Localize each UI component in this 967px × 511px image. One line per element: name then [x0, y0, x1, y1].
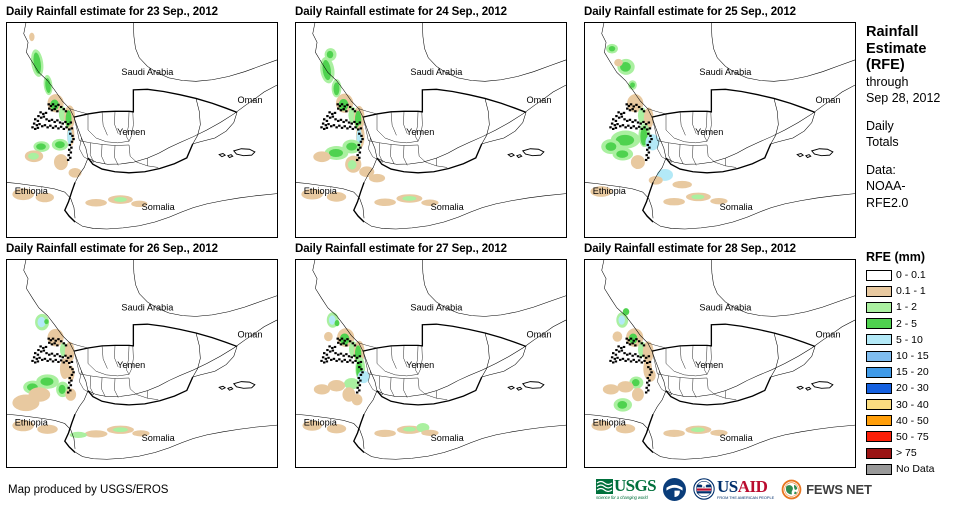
terrain-cell	[55, 340, 57, 342]
rfe-through-label: through	[866, 74, 967, 91]
map-svg: Saudi ArabiaOmanYemenEthiopiaSomalia	[585, 23, 855, 237]
terrain-cell	[640, 356, 642, 358]
terrain-cell	[359, 121, 361, 123]
terrain-cell	[360, 141, 362, 143]
terrain-cell	[72, 138, 74, 140]
terrain-cell	[49, 358, 51, 360]
terrain-cell	[337, 103, 339, 105]
country-label-yemen: Yemen	[695, 360, 723, 370]
usaid-aid-text: AID	[738, 477, 768, 496]
terrain-cell	[344, 340, 346, 342]
country-label-oman: Oman	[816, 330, 841, 340]
terrain-cell	[623, 352, 625, 354]
terrain-cell	[329, 351, 331, 353]
terrain-cell	[615, 120, 617, 122]
terrain-cell	[612, 118, 614, 120]
rfe-info-block: Rainfall Estimate (RFE) through Sep 28, …	[866, 24, 967, 211]
terrain-cell	[57, 127, 59, 129]
terrain-cell	[53, 108, 55, 110]
terrain-cell	[328, 111, 330, 113]
terrain-cell	[358, 144, 360, 146]
rainfall-layer	[12, 33, 147, 207]
terrain-cell	[65, 110, 67, 112]
terrain-cell	[646, 149, 648, 151]
terrain-cell	[345, 353, 347, 355]
terrain-cell	[647, 377, 649, 379]
terrain-cell	[623, 118, 625, 120]
terrain-cell	[56, 110, 58, 112]
terrain-cell	[323, 361, 325, 363]
terrain-cell	[70, 380, 72, 382]
terrain-cell	[53, 121, 55, 123]
terrain-cell	[323, 352, 325, 354]
terrain-cell	[67, 154, 69, 156]
terrain-cell	[341, 127, 343, 129]
terrain-cell	[340, 109, 342, 111]
islands	[219, 149, 255, 158]
terrain-cell	[39, 345, 41, 347]
country-label-yemen: Yemen	[117, 127, 145, 137]
terrain-cell	[626, 120, 628, 122]
legend-label: 50 - 75	[896, 431, 929, 443]
country-label-ethiopia: Ethiopia	[15, 418, 48, 428]
terrain-cell	[624, 360, 626, 362]
legend-swatch	[866, 334, 892, 345]
terrain-cell	[614, 358, 616, 360]
country-label-ethiopia: Ethiopia	[304, 418, 337, 428]
map-panel-28-sep: Daily Rainfall estimate for 28 Sep., 201…	[584, 243, 796, 255]
terrain-cell	[342, 121, 344, 123]
spacer	[866, 151, 967, 162]
map-frame-28-sep[interactable]: Saudi ArabiaOmanYemenEthiopiaSomalia	[584, 259, 856, 468]
terrain-cell	[56, 119, 58, 121]
rainfall-cell	[329, 315, 335, 324]
terrain-cell	[351, 356, 353, 358]
terrain-cell	[638, 340, 640, 342]
terrain-cell	[36, 124, 38, 126]
terrain-cell	[65, 126, 67, 128]
spacer	[866, 107, 967, 118]
terrain-cell	[37, 120, 39, 122]
rainfall-cell	[660, 172, 669, 178]
terrain-cell	[609, 360, 611, 362]
terrain-cell	[345, 344, 347, 346]
terrain-cell	[647, 144, 649, 146]
terrain-cell	[60, 340, 62, 342]
map-panel-23-sep: Daily Rainfall estimate for 23 Sep., 201…	[6, 6, 218, 18]
terrain-cell	[60, 359, 62, 361]
rfe-totals-label: Totals	[866, 134, 967, 151]
terrain-cell	[360, 368, 362, 370]
terrain-cell	[648, 384, 650, 386]
terrain-cell	[326, 360, 328, 362]
map-panel-25-sep: Daily Rainfall estimate for 25 Sep., 201…	[584, 6, 796, 18]
legend-label: 40 - 50	[896, 415, 929, 427]
terrain-cell	[615, 115, 617, 117]
legend-label: 5 - 10	[896, 334, 923, 346]
terrain-cell	[612, 352, 614, 354]
terrain-cell	[37, 354, 39, 356]
terrain-cell	[341, 103, 343, 105]
map-frame-24-sep[interactable]: Saudi ArabiaOmanYemenEthiopiaSomalia	[295, 22, 567, 238]
terrain-cell	[649, 368, 651, 370]
noaa-logo-icon	[663, 478, 686, 501]
terrain-cell	[635, 104, 637, 106]
terrain-cell	[633, 359, 635, 361]
terrain-cell	[69, 133, 71, 135]
terrain-cell	[333, 124, 335, 126]
country-label-oman: Oman	[527, 330, 552, 340]
terrain-cell	[68, 362, 70, 364]
terrain-cell	[342, 342, 344, 344]
terrain-cell	[45, 346, 47, 348]
legend-swatch	[866, 367, 892, 378]
legend-label: 2 - 5	[896, 318, 917, 330]
rainfall-cell	[70, 432, 87, 438]
terrain-cell	[622, 124, 624, 126]
terrain-cell	[31, 126, 33, 128]
terrain-cell	[634, 119, 636, 121]
terrain-cell	[326, 349, 328, 351]
rainfall-cell	[631, 155, 645, 169]
terrain-cell	[325, 124, 327, 126]
terrain-cell	[633, 340, 635, 342]
terrain-cell	[357, 149, 359, 151]
map-frame-23-sep[interactable]: Saudi ArabiaOmanYemenEthiopiaSomalia	[6, 22, 278, 238]
terrain-cell	[48, 103, 50, 105]
usgs-logo-main: USGS	[596, 478, 656, 494]
terrain-cell	[626, 108, 628, 110]
rainfall-cell	[613, 331, 623, 341]
terrain-cell	[648, 355, 650, 357]
map-panel-26-sep: Daily Rainfall estimate for 26 Sep., 201…	[6, 243, 218, 255]
terrain-cell	[615, 349, 617, 351]
terrain-cell	[620, 113, 622, 115]
terrain-cell	[67, 357, 69, 359]
terrain-cell	[56, 344, 58, 346]
terrain-cell	[67, 387, 69, 389]
legend-swatch	[866, 351, 892, 362]
terrain-cell	[356, 387, 358, 389]
country-label-saudi-arabia: Saudi Arabia	[410, 67, 463, 77]
terrain-cell	[326, 115, 328, 117]
panel-title: Daily Rainfall estimate for 25 Sep., 201…	[584, 6, 796, 18]
terrain-cell	[628, 105, 630, 107]
terrain-cell	[44, 124, 46, 126]
terrain-cell	[37, 349, 39, 351]
legend-item: 15 - 20	[866, 364, 967, 380]
terrain-cell	[337, 354, 339, 356]
legend-swatch	[866, 286, 892, 297]
terrain-cell	[331, 113, 333, 115]
rainfall-cell	[329, 149, 343, 157]
terrain-cell	[71, 141, 73, 143]
terrain-cell	[354, 360, 356, 362]
terrain-cell	[333, 358, 335, 360]
terrain-cell	[325, 358, 327, 360]
terrain-cell	[360, 127, 362, 129]
rainfall-cell	[114, 197, 127, 202]
rainfall-cell	[85, 430, 108, 437]
terrain-cell	[624, 126, 626, 128]
terrain-cell	[44, 358, 46, 360]
terrain-cell	[346, 127, 348, 129]
usaid-logo: USAID FROM THE AMERICAN PEOPLE	[693, 478, 774, 500]
terrain-cell	[70, 355, 72, 357]
terrain-cell	[645, 387, 647, 389]
terrain-cell	[643, 360, 645, 362]
terrain-cell	[642, 355, 644, 357]
rainfall-cell	[374, 198, 396, 205]
rainfall-cell	[59, 385, 66, 394]
terrain-cell	[320, 126, 322, 128]
terrain-cell	[646, 382, 648, 384]
usgs-logo: USGS science for a changing world	[596, 478, 656, 500]
terrain-cell	[338, 358, 340, 360]
rainfall-cell	[44, 319, 48, 324]
terrain-cell	[48, 354, 50, 356]
terrain-cell	[323, 118, 325, 120]
usaid-wordmark: USAID	[717, 479, 774, 494]
terrain-cell	[72, 371, 74, 373]
terrain-cell	[646, 128, 648, 130]
terrain-cell	[641, 128, 643, 130]
terrain-cell	[628, 339, 630, 341]
map-frame-27-sep[interactable]: Saudi ArabiaOmanYemenEthiopiaSomalia	[295, 259, 567, 468]
terrain-cell	[348, 121, 350, 123]
rainfall-cell	[632, 388, 644, 401]
terrain-cell	[626, 338, 628, 340]
terrain-cell	[67, 123, 69, 125]
terrain-cell	[349, 126, 351, 128]
terrain-cell	[57, 104, 59, 106]
terrain-cell	[638, 106, 640, 108]
terrain-cell	[59, 355, 61, 357]
terrain-cell	[627, 358, 629, 360]
terrain-cell	[337, 338, 339, 340]
rfe-heading-line2: Estimate	[866, 41, 967, 58]
fews-net-logo: FEWS NET	[781, 479, 872, 500]
terrain-cell	[340, 353, 342, 355]
country-label-yemen: Yemen	[695, 127, 723, 137]
rfe-data-source-line1: NOAA-	[866, 178, 967, 195]
usgs-tagline: science for a changing world	[596, 495, 656, 500]
terrain-cell	[62, 123, 64, 125]
terrain-cell	[70, 147, 72, 149]
terrain-cell	[621, 116, 623, 118]
terrain-cell	[356, 123, 358, 125]
terrain-cell	[41, 359, 43, 361]
terrain-cell	[337, 108, 339, 110]
terrain-cell	[356, 391, 358, 393]
terrain-cell	[614, 124, 616, 126]
terrain-cell	[334, 118, 336, 120]
terrain-cell	[349, 359, 351, 361]
terrain-cell	[64, 121, 66, 123]
terrain-cell	[339, 339, 341, 341]
terrain-cell	[328, 345, 330, 347]
country-label-yemen: Yemen	[406, 127, 434, 137]
terrain-cell	[38, 123, 40, 125]
legend-label: 0.1 - 1	[896, 285, 926, 297]
terrain-cell	[358, 133, 360, 135]
globe-icon	[781, 479, 802, 500]
terrain-cell	[330, 125, 332, 127]
rainfall-cell	[324, 332, 333, 341]
terrain-cell	[63, 342, 65, 344]
rfe-heading-line1: Rainfall	[866, 24, 967, 41]
islands	[508, 382, 544, 391]
terrain-cell	[60, 126, 62, 128]
terrain-cell	[50, 339, 52, 341]
terrain-cell	[42, 113, 44, 115]
terrain-cell	[46, 360, 48, 362]
terrain-cell	[57, 338, 59, 340]
rainfall-cell	[617, 381, 633, 392]
country-label-oman: Oman	[527, 95, 552, 105]
legend-item: 1 - 2	[866, 299, 967, 315]
terrain-cell	[615, 360, 617, 362]
terrain-cell	[331, 347, 333, 349]
panel-title: Daily Rainfall estimate for 27 Sep., 201…	[295, 243, 507, 255]
terrain-cell	[353, 121, 355, 123]
terrain-cell	[342, 108, 344, 110]
terrain-cell	[631, 108, 633, 110]
legend-label: 1 - 2	[896, 301, 917, 313]
rainfall-cell	[54, 154, 68, 170]
rainfall-cell	[663, 430, 685, 437]
terrain-cell	[64, 355, 66, 357]
terrain-cell	[612, 128, 614, 130]
terrain-cell	[615, 354, 617, 356]
terrain-cell	[643, 110, 645, 112]
country-label-saudi-arabia: Saudi Arabia	[699, 67, 752, 77]
terrain-cell	[55, 359, 57, 361]
terrain-cell	[648, 380, 650, 382]
panel-title: Daily Rainfall estimate for 26 Sep., 201…	[6, 243, 218, 255]
terrain-cell	[618, 117, 620, 119]
terrain-cell	[645, 159, 647, 161]
terrain-cell	[360, 361, 362, 363]
terrain-cell	[45, 352, 47, 354]
country-label-somalia: Somalia	[720, 202, 754, 212]
terrain-cell	[71, 374, 73, 376]
terrain-cell	[645, 154, 647, 156]
terrain-cell	[326, 127, 328, 129]
terrain-cell	[609, 126, 611, 128]
terrain-cell	[645, 357, 647, 359]
map-panel-27-sep: Daily Rainfall estimate for 27 Sep., 201…	[295, 243, 507, 255]
terrain-cell	[626, 342, 628, 344]
terrain-cell	[616, 123, 618, 125]
country-label-somalia: Somalia	[431, 202, 465, 212]
terrain-cell	[52, 360, 54, 362]
terrain-cell	[360, 374, 362, 376]
legend-label: 0 - 0.1	[896, 269, 926, 281]
terrain-cell	[349, 340, 351, 342]
terrain-cell	[359, 151, 361, 153]
terrain-cell	[327, 357, 329, 359]
terrain-cell	[67, 391, 69, 393]
terrain-cell	[358, 366, 360, 368]
terrain-cell	[617, 111, 619, 113]
rfe-through-date: Sep 28, 2012	[866, 90, 967, 107]
map-svg: Saudi ArabiaOmanYemenEthiopiaSomalia	[585, 260, 855, 467]
country-label-yemen: Yemen	[117, 360, 145, 370]
terrain-cell	[649, 361, 651, 363]
rainfall-cell	[616, 150, 628, 157]
country-label-somalia: Somalia	[142, 202, 176, 212]
terrain-cell	[352, 128, 354, 130]
terrain-cell	[634, 110, 636, 112]
map-frame-25-sep[interactable]: Saudi ArabiaOmanYemenEthiopiaSomalia	[584, 22, 856, 238]
terrain-cell	[647, 389, 649, 391]
terrain-cell	[68, 149, 70, 151]
legend-rows: 0 - 0.10.1 - 11 - 22 - 55 - 1010 - 1515 …	[866, 267, 967, 477]
terrain-cell	[34, 352, 36, 354]
islands	[508, 149, 544, 158]
usaid-wordmark-block: USAID FROM THE AMERICAN PEOPLE	[717, 479, 774, 500]
terrain-cell	[629, 109, 631, 111]
rainfall-cell	[327, 51, 333, 58]
rainfall-cell	[402, 196, 416, 201]
terrain-cell	[647, 366, 649, 368]
terrain-cell	[611, 356, 613, 358]
legend-item: 0 - 0.1	[866, 267, 967, 283]
country-label-ethiopia: Ethiopia	[304, 186, 338, 196]
legend-label: 30 - 40	[896, 399, 929, 411]
country-label-saudi-arabia: Saudi Arabia	[410, 303, 462, 313]
rainfall-cell	[603, 384, 619, 394]
terrain-cell	[337, 342, 339, 344]
usaid-tagline: FROM THE AMERICAN PEOPLE	[717, 495, 774, 500]
terrain-cell	[611, 123, 613, 125]
terrain-cell	[356, 357, 358, 359]
rainfall-cell	[328, 380, 345, 391]
terrain-cell	[359, 380, 361, 382]
legend-item: 0.1 - 1	[866, 283, 967, 299]
terrain-cell	[617, 345, 619, 347]
rainfall-cell	[403, 427, 416, 432]
rainfall-cell	[28, 153, 39, 160]
terrain-cell	[358, 389, 360, 391]
terrain-cell	[337, 120, 339, 122]
map-frame-26-sep[interactable]: Saudi ArabiaOmanYemenEthiopiaSomalia	[6, 259, 278, 468]
legend-label: 20 - 30	[896, 382, 929, 394]
country-label-saudi-arabia: Saudi Arabia	[121, 303, 173, 313]
rainfall-cell	[614, 59, 623, 66]
terrain-cell	[354, 110, 356, 112]
panel-title: Daily Rainfall estimate for 23 Sep., 201…	[6, 6, 218, 18]
terrain-cell	[647, 133, 649, 135]
legend-item: 20 - 30	[866, 380, 967, 396]
terrain-cell	[360, 135, 362, 137]
legend-item: No Data	[866, 461, 967, 477]
legend-label: > 75	[896, 447, 917, 459]
rainfall-cell	[346, 143, 357, 151]
country-label-somalia: Somalia	[142, 433, 175, 443]
terrain-cell	[344, 125, 346, 127]
terrain-cell	[359, 147, 361, 149]
country-label-oman: Oman	[238, 95, 263, 105]
terrain-cell	[341, 338, 343, 340]
rainfall-cell	[12, 395, 39, 412]
legend-label: 15 - 20	[896, 366, 929, 378]
terrain-cell	[69, 157, 71, 159]
terrain-cell	[351, 123, 353, 125]
rainfall-cell	[40, 377, 53, 385]
terrain-cell	[623, 346, 625, 348]
